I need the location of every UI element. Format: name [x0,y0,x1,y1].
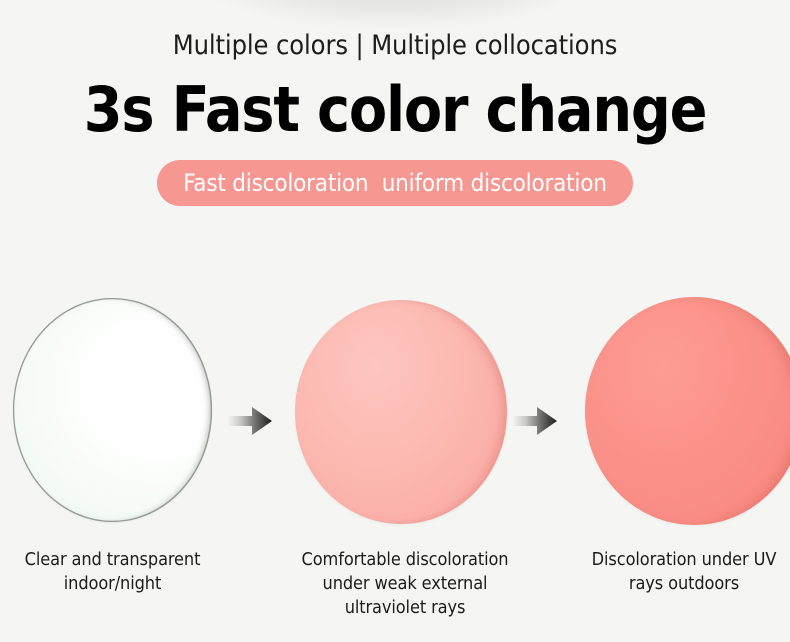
arrow-right-icon [228,406,272,436]
badge-row: Fast discoloration uniform discoloration [0,160,790,206]
caption-line: Comfortable discoloration [275,548,535,572]
eyebrow-text: Multiple colors | Multiple collocations [0,27,790,65]
lens-clear [13,298,212,522]
page-title: 3s Fast color change [0,73,790,147]
caption-line: indoor/night [0,572,225,596]
feature-badge: Fast discoloration uniform discoloration [157,160,632,206]
caption-coral: Discoloration under UV rays outdoors [572,548,790,596]
caption-line: Discoloration under UV [572,548,790,572]
caption-row: Clear and transparent indoor/night Comfo… [0,548,790,642]
caption-line: rays outdoors [572,572,790,596]
caption-line: ultraviolet rays [275,596,535,620]
caption-line: under weak external [275,572,535,596]
caption-clear: Clear and transparent indoor/night [0,548,225,596]
arrow-right-icon [513,406,557,436]
lens-light-pink [295,300,507,524]
lens-coral [585,297,790,525]
caption-line: Clear and transparent [0,548,225,572]
promo-header: Multiple colors | Multiple collocations … [0,0,790,206]
caption-light-pink: Comfortable discoloration under weak ext… [275,548,535,620]
